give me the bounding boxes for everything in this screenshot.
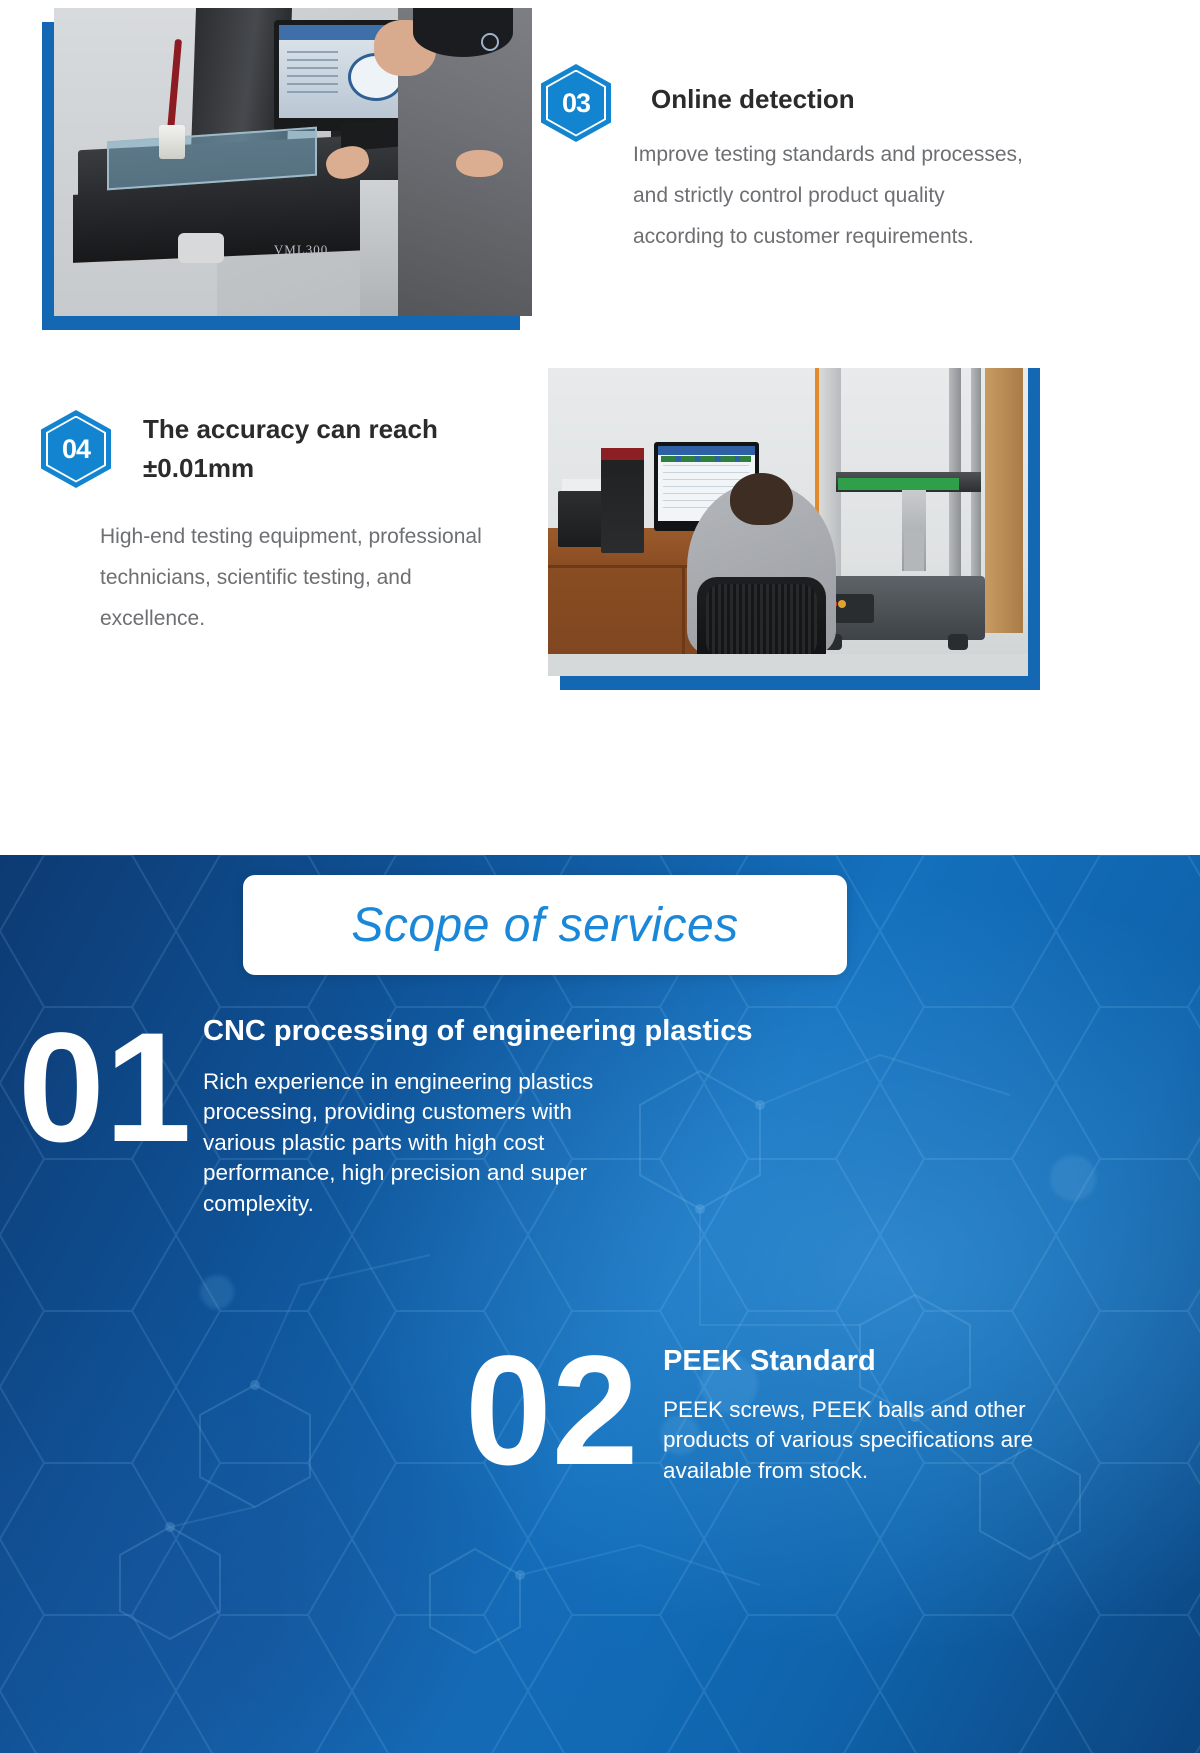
step-badge-03: 03	[541, 64, 611, 142]
section-title-online-detection: Online detection	[651, 80, 1081, 119]
photo-frame-accuracy	[548, 368, 1040, 690]
step-badge-04-number: 04	[41, 410, 111, 488]
step-badge-03-number: 03	[541, 64, 611, 142]
section-body-online-detection: Improve testing standards and processes,…	[633, 135, 1023, 258]
scope-of-services-banner: Scope of services	[243, 875, 847, 975]
scope-of-services-section: Scope of services 01 CNC processing of e…	[0, 855, 1200, 1753]
service-title-cnc: CNC processing of engineering plastics	[203, 1015, 963, 1048]
photo-online-detection: VML300	[54, 8, 532, 316]
hexagon-background-pattern	[0, 855, 1200, 1753]
service-body-peek: PEEK screws, PEEK balls and other produc…	[663, 1395, 1063, 1486]
photo-frame-online-detection: VML300	[42, 8, 532, 328]
service-title-peek: PEEK Standard	[663, 1345, 1083, 1378]
section-body-accuracy: High-end testing equipment, professional…	[100, 517, 520, 640]
top-white-area: VML300 03 Online detection Improve testi…	[0, 0, 1200, 855]
photo-accent-bar-bottom	[42, 316, 520, 330]
step-badge-04: 04	[41, 410, 111, 488]
photo-accent-bar-bottom-2	[560, 676, 1040, 690]
photo-accent-bar-left	[42, 22, 54, 330]
service-body-cnc: Rich experience in engineering plastics …	[203, 1067, 633, 1219]
photo-accent-bar-right-2	[1028, 368, 1040, 676]
section-title-accuracy: The accuracy can reach ±0.01mm	[143, 410, 493, 488]
scope-of-services-title: Scope of services	[351, 898, 738, 953]
service-number-02: 02	[465, 1333, 639, 1489]
photo-accuracy	[548, 368, 1028, 676]
service-number-01: 01	[18, 1010, 192, 1166]
page-root: VML300 03 Online detection Improve testi…	[0, 0, 1200, 1753]
